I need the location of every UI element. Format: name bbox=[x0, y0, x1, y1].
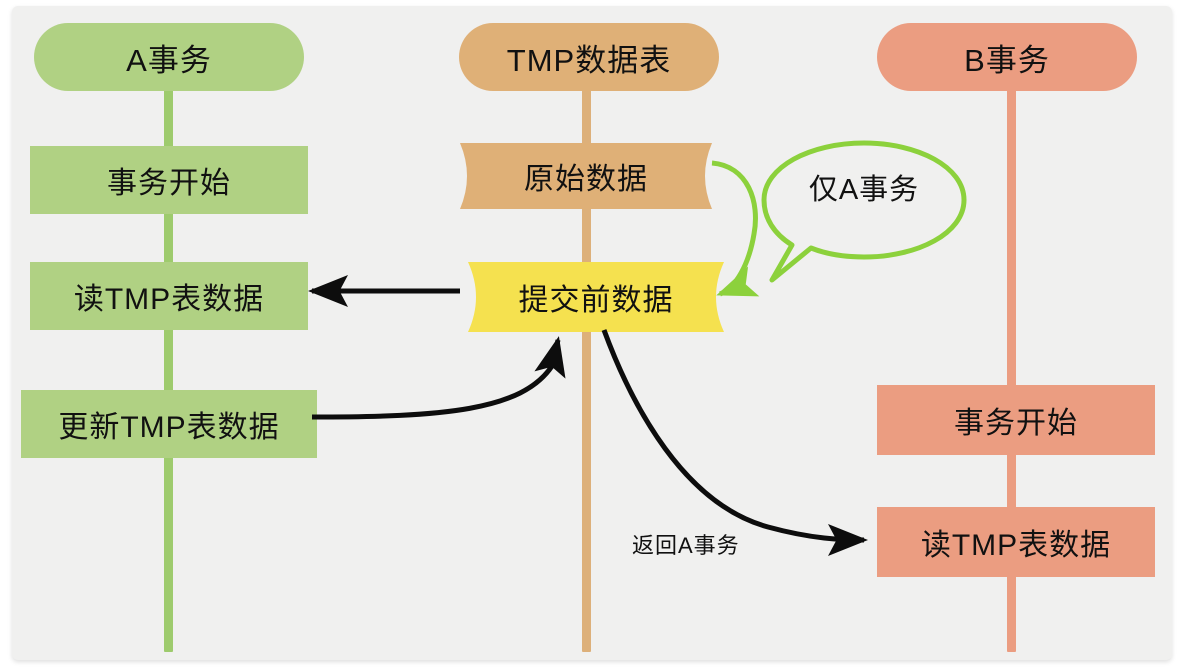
callout-only-a-label: 仅A事务 bbox=[758, 139, 970, 235]
step-a-update-tmp[interactable]: 更新TMP表数据 bbox=[21, 390, 317, 458]
step-a-transaction-start-label: 事务开始 bbox=[107, 158, 231, 202]
step-b-read-tmp[interactable]: 读TMP表数据 bbox=[877, 507, 1155, 577]
step-a-read-tmp[interactable]: 读TMP表数据 bbox=[30, 262, 308, 330]
edge-update-to-pre-commit bbox=[312, 340, 558, 417]
lane-header-tmp[interactable]: TMP数据表 bbox=[459, 23, 719, 91]
lane-header-a[interactable]: A事务 bbox=[34, 23, 304, 91]
step-tmp-pre-commit-data[interactable]: 提交前数据 bbox=[456, 262, 736, 332]
step-tmp-original-data[interactable]: 原始数据 bbox=[450, 143, 722, 209]
diagram-root: A事务 TMP数据表 B事务 事务开始 读TMP表数据 更新TMP表数据 事务开… bbox=[0, 0, 1178, 672]
lane-header-b-label: B事务 bbox=[964, 35, 1050, 80]
step-b-transaction-start-label: 事务开始 bbox=[954, 398, 1078, 442]
lane-header-tmp-label: TMP数据表 bbox=[507, 35, 671, 80]
step-tmp-pre-commit-data-label: 提交前数据 bbox=[456, 262, 736, 332]
step-a-update-tmp-label: 更新TMP表数据 bbox=[58, 402, 279, 446]
step-tmp-original-data-label: 原始数据 bbox=[450, 143, 722, 209]
lane-header-b[interactable]: B事务 bbox=[877, 23, 1137, 91]
callout-only-a[interactable]: 仅A事务 bbox=[758, 139, 970, 299]
step-b-transaction-start[interactable]: 事务开始 bbox=[877, 385, 1155, 455]
step-b-read-tmp-label: 读TMP表数据 bbox=[921, 520, 1111, 564]
edge-return-to-a-label: 返回A事务 bbox=[632, 528, 740, 560]
step-a-transaction-start[interactable]: 事务开始 bbox=[30, 146, 308, 214]
edge-return-to-a bbox=[604, 330, 864, 540]
step-a-read-tmp-label: 读TMP表数据 bbox=[74, 274, 264, 318]
lane-header-a-label: A事务 bbox=[126, 35, 212, 80]
diagram-canvas: A事务 TMP数据表 B事务 事务开始 读TMP表数据 更新TMP表数据 事务开… bbox=[12, 6, 1172, 660]
